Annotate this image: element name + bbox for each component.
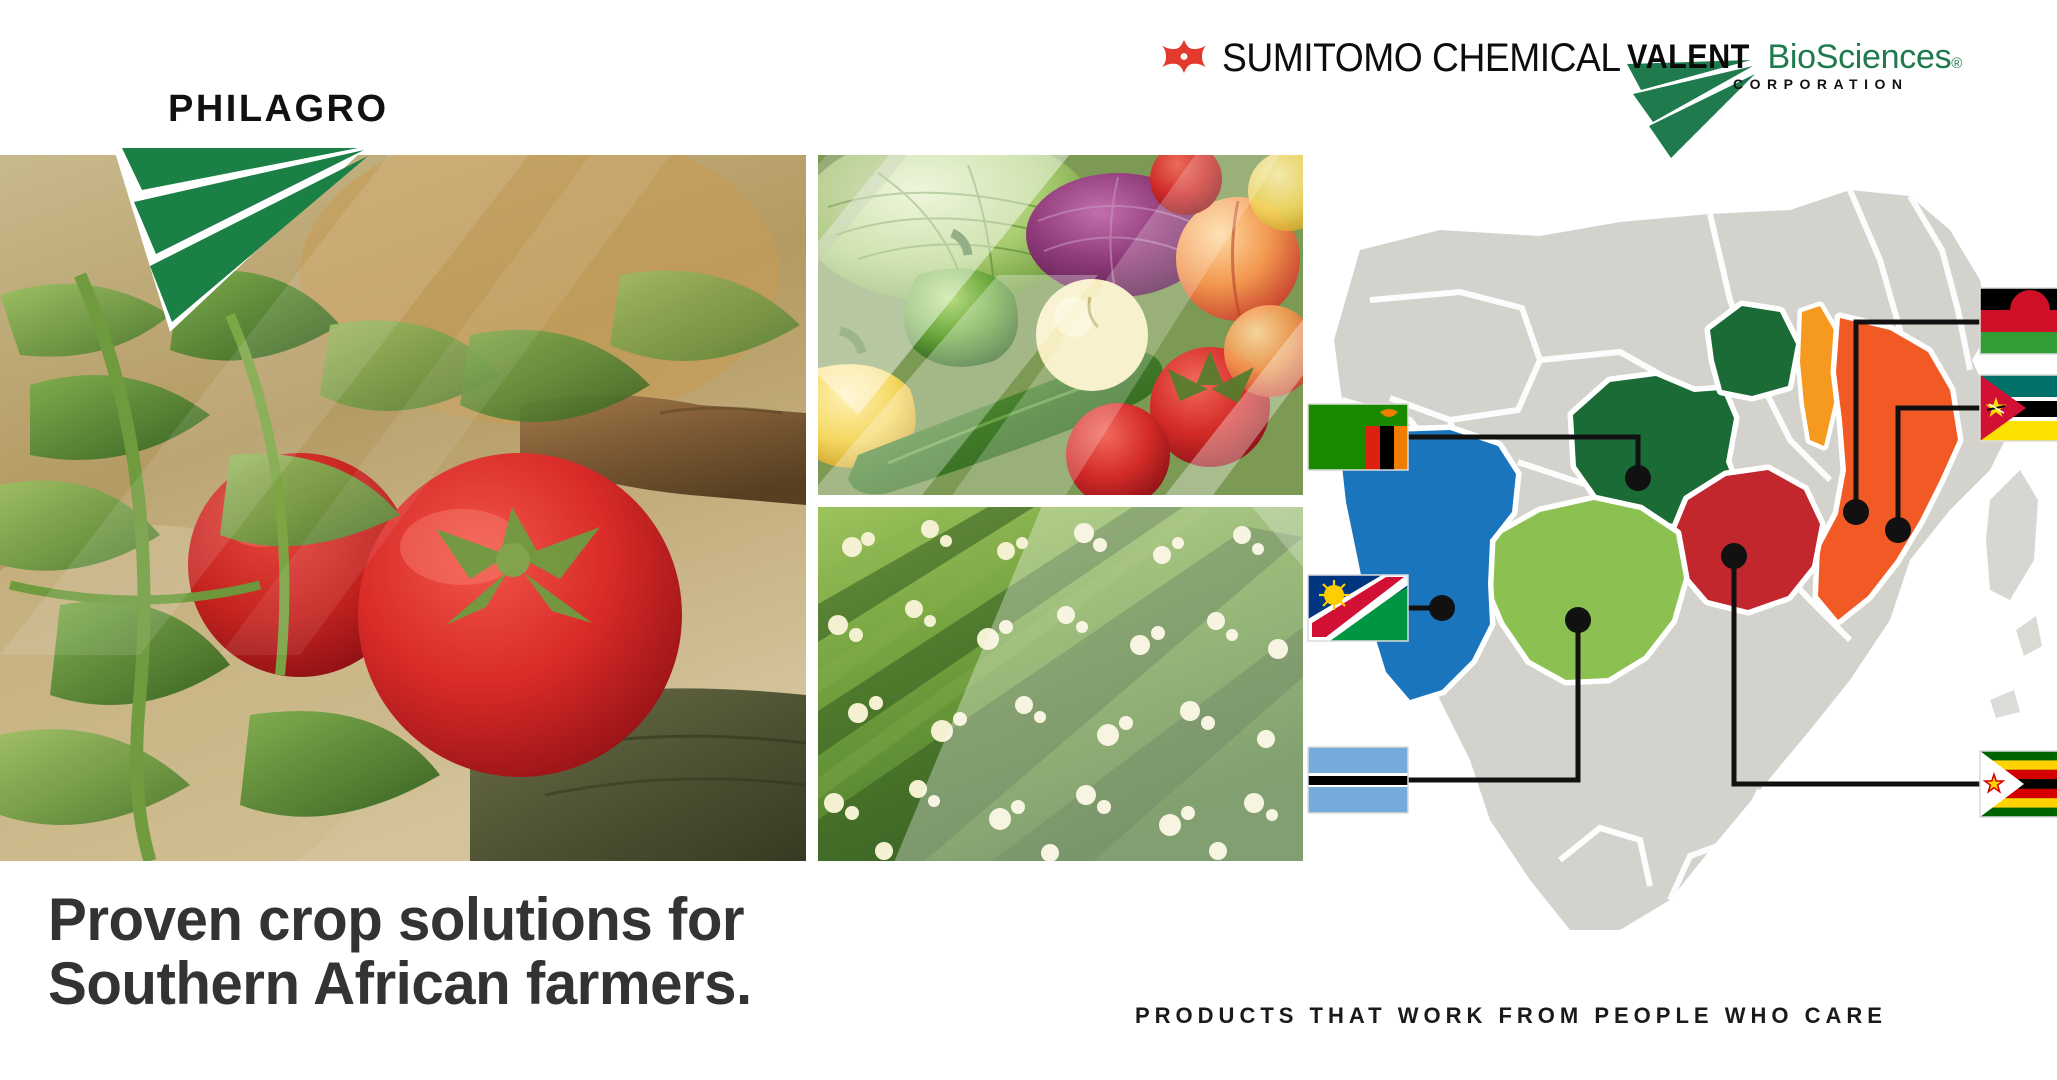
zambia-flag-icon (1308, 404, 1408, 470)
headline-line-1: Proven crop solutions for (48, 888, 752, 952)
tagline: PRODUCTS THAT WORK FROM PEOPLE WHO CARE (1135, 1003, 1887, 1029)
mozambique-flag-icon (1980, 375, 2057, 441)
philagro-wordmark: PHILAGRO (168, 88, 389, 131)
headline-line-2: Southern African farmers. (48, 952, 752, 1016)
philagro-logo: PHILAGRO (140, 88, 420, 328)
mixed-produce-photo (818, 155, 1303, 495)
philagro-triangle-icon (110, 132, 380, 332)
botswana-flag-icon (1308, 747, 1408, 813)
page-headline: Proven crop solutions for Southern Afric… (48, 888, 773, 1016)
southern-africa-map (1290, 0, 2057, 930)
country-zimbabwe (1674, 470, 1820, 610)
sumitomo-diamond-icon (1160, 34, 1208, 82)
potato-field-photo (818, 507, 1303, 861)
poster-canvas: SUMITOMO CHEMICAL VALENT BioSciences ® C… (0, 0, 2057, 1080)
zimbabwe-flag-icon (1980, 751, 2057, 817)
namibia-flag-icon (1308, 575, 1408, 641)
malawi-flag-icon (1980, 288, 2057, 354)
